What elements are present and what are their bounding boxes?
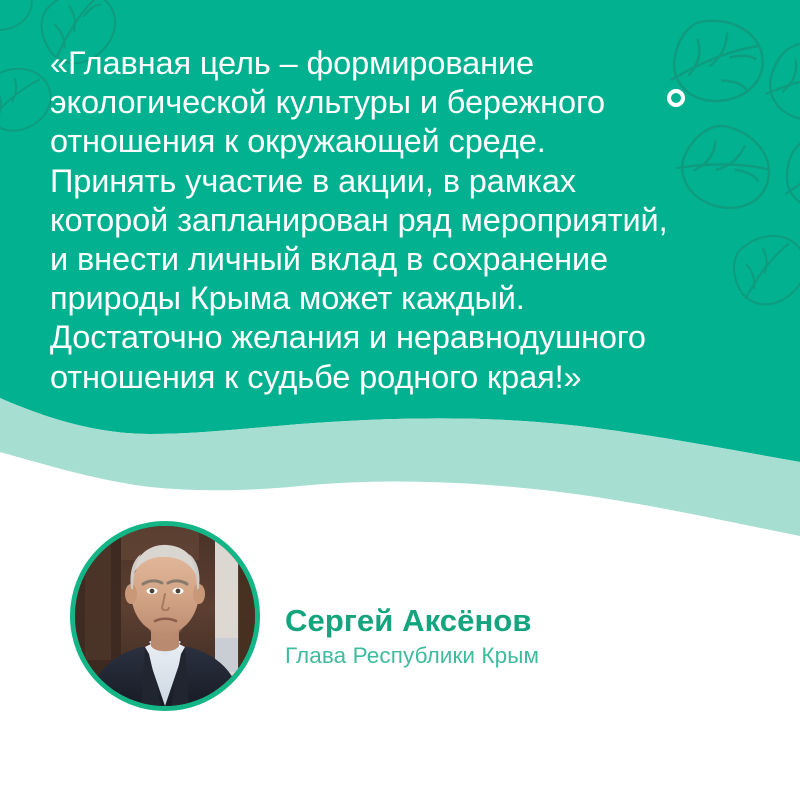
leaf-icon <box>0 0 37 37</box>
quote-card: «Главная цель – формирование экологическ… <box>0 0 800 800</box>
quote-text-block: «Главная цель – формирование экологическ… <box>50 44 750 397</box>
quote-line: «Главная цель – формирование <box>50 44 750 83</box>
author-name: Сергей Аксёнов <box>285 602 755 639</box>
author-block: Сергей Аксёнов Глава Республики Крым <box>285 602 755 670</box>
leaf-icon <box>760 33 800 134</box>
avatar <box>70 521 260 711</box>
quote-line: отношения к окружающей среде. <box>50 122 750 161</box>
quote-line: Принять участие в акции, в рамках <box>50 162 750 201</box>
quote-line: которой запланирован ряд мероприятий, <box>50 201 750 240</box>
leaf-icon <box>783 132 800 214</box>
avatar-photo <box>75 526 255 706</box>
quote-line: природы Крыма может каждый. <box>50 279 750 318</box>
author-role: Глава Республики Крым <box>285 641 755 670</box>
quote-line: и внести личный вклад в сохранение <box>50 240 750 279</box>
leaf-icon <box>0 66 54 134</box>
quote-line: отношения к судьбе родного края!» <box>50 358 750 397</box>
quote-line: Достаточно желания и неравнодушного <box>50 318 750 357</box>
quote-line: экологической культуры и бережного <box>50 83 750 122</box>
